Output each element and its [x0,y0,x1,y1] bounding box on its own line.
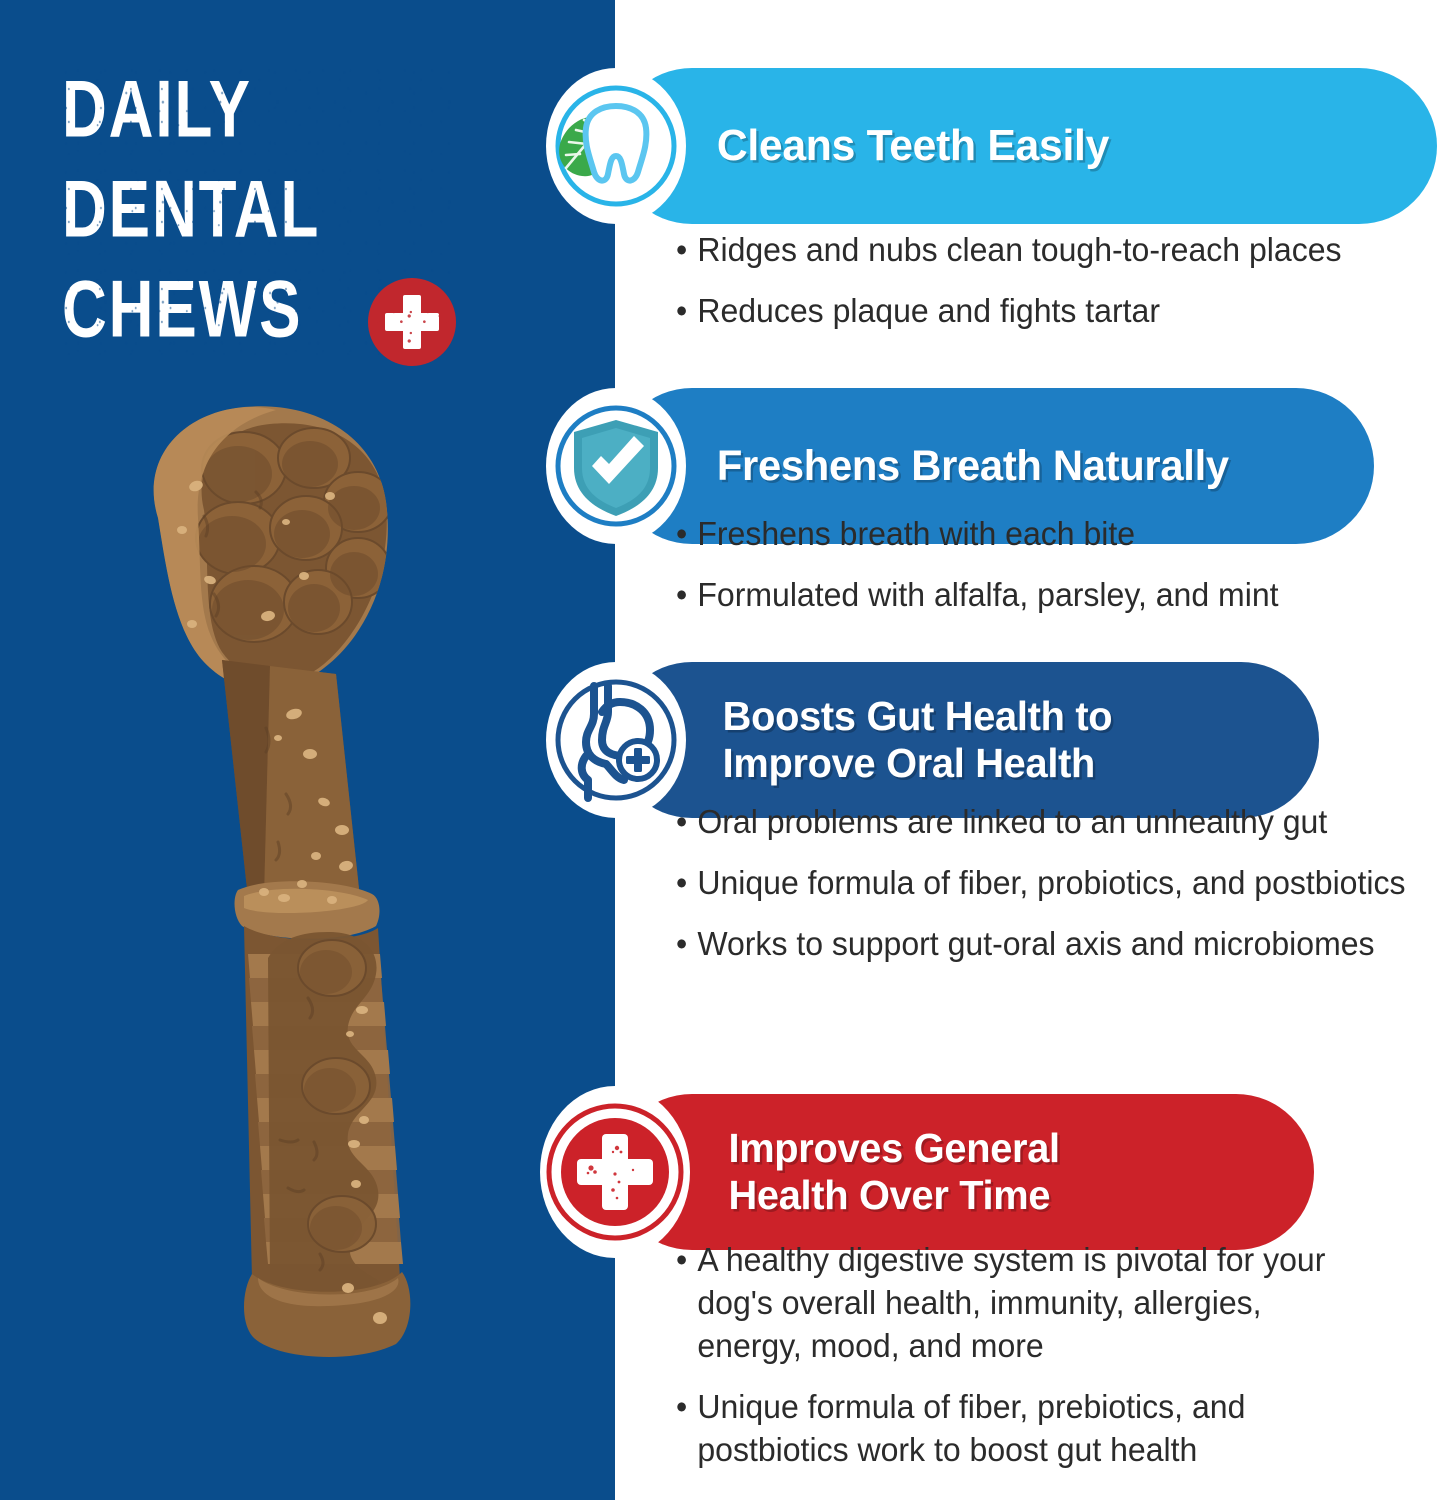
feature-heading-line-1: Boosts Gut Health to [723,693,1113,740]
bullet-text: Freshens breath with each bite [697,512,1413,555]
bullet-text: Oral problems are linked to an unhealthy… [697,800,1413,843]
bullet-dot: • [676,573,697,616]
list-item: • A healthy digestive system is pivotal … [676,1238,1345,1367]
bullet-dot: • [676,1385,697,1471]
medical-cross-circle-icon [540,1086,690,1258]
bullet-text: Unique formula of fiber, prebiotics, and… [697,1385,1345,1471]
bullet-text: Reduces plaque and fights tartar [697,289,1427,332]
list-item: • Formulated with alfalfa, parsley, and … [676,573,1413,616]
bullet-text: Unique formula of fiber, probiotics, and… [697,861,1413,904]
feature-bullets: • Ridges and nubs clean tough-to-reach p… [676,228,1444,350]
bullet-text: Ridges and nubs clean tough-to-reach pla… [697,228,1427,271]
tooth-with-mint-leaf-icon [546,68,686,224]
shield-checkmark-icon [546,388,686,544]
feature-banner: Cleans Teeth Easily [614,68,1437,224]
list-item: • Reduces plaque and fights tartar [676,289,1428,332]
stomach-plus-icon [546,662,686,818]
list-item: • Unique formula of fiber, probiotics, a… [676,861,1413,904]
bullet-dot: • [676,512,697,555]
feature-bullets: • Freshens breath with each bite • Formu… [676,512,1436,634]
bullet-text: A healthy digestive system is pivotal fo… [697,1238,1345,1367]
bullet-dot: • [676,922,697,965]
infographic-page: DAILY DENTAL CHEWS [0,0,1444,1500]
feature-heading-line-2: Health Over Time [728,1172,1059,1219]
feature-bullets: • Oral problems are linked to an unhealt… [676,800,1436,983]
list-item: • Oral problems are linked to an unhealt… [676,800,1413,843]
feature-heading: Cleans Teeth Easily [614,123,1138,169]
bullet-text: Formulated with alfalfa, parsley, and mi… [697,573,1413,616]
list-item: • Works to support gut-oral axis and mic… [676,922,1413,965]
bullet-text: Works to support gut-oral axis and micro… [697,922,1413,965]
feature-heading: Freshens Breath Naturally [614,443,1258,489]
list-item: • Freshens breath with each bite [676,512,1413,555]
bullet-dot: • [676,800,697,843]
bullet-dot: • [676,1238,697,1367]
feature-heading-line-2: Improve Oral Health [723,740,1113,787]
bullet-dot: • [676,228,697,271]
bullet-dot: • [676,861,697,904]
feature-heading-line-1: Improves General [728,1125,1059,1172]
features-list: Cleans Teeth Easily [0,0,1444,1500]
bullet-dot: • [676,289,697,332]
list-item: • Unique formula of fiber, prebiotics, a… [676,1385,1345,1471]
feature-bullets: • A healthy digestive system is pivotal … [676,1238,1366,1489]
feature-banner: Boosts Gut Health to Improve Oral Health [614,662,1319,818]
list-item: • Ridges and nubs clean tough-to-reach p… [676,228,1428,271]
feature-banner: Improves General Health Over Time [614,1094,1314,1250]
feature-heading: Boosts Gut Health to Improve Oral Health [614,693,1141,787]
